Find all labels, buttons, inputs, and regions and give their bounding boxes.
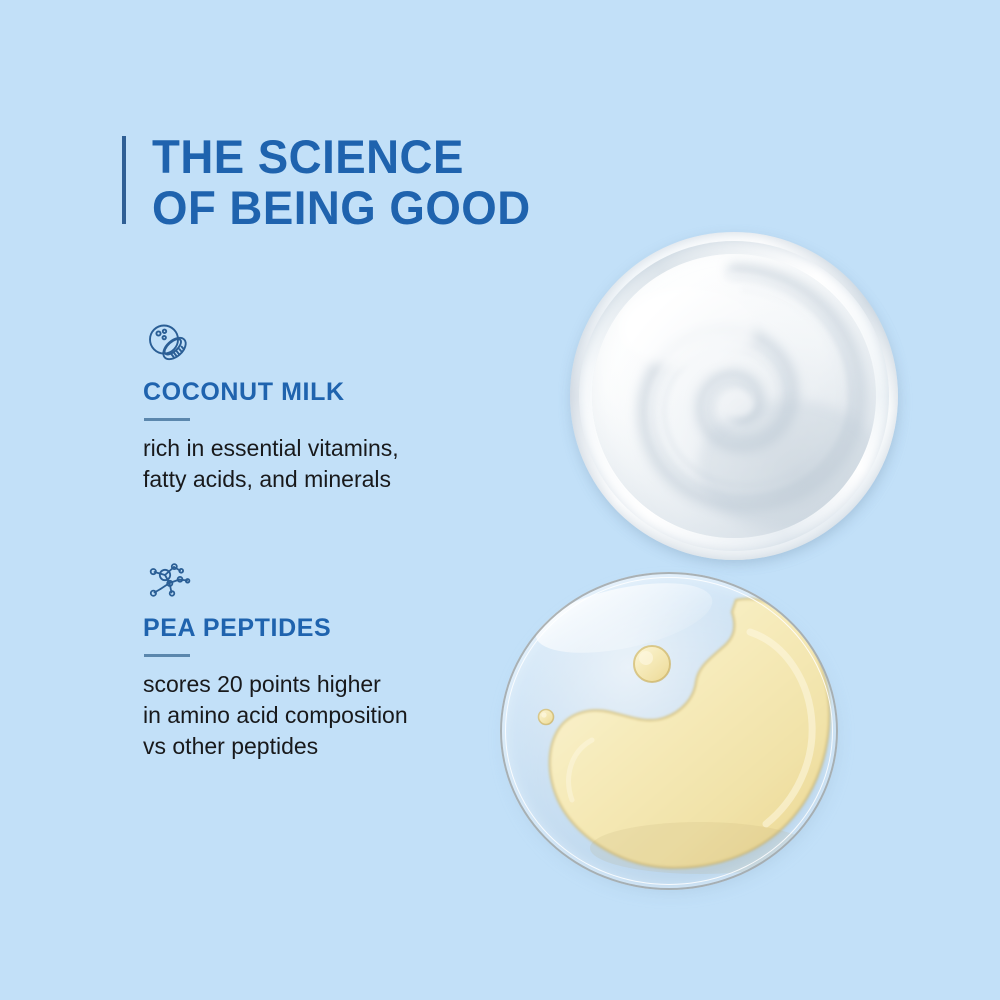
- feature-pea-peptides: PEA PEPTIDES scores 20 points higher in …: [143, 554, 503, 762]
- cream-swirl-pattern: [592, 254, 876, 538]
- serum-liquid: [500, 572, 838, 890]
- feature-description: rich in essential vitamins, fatty acids,…: [143, 433, 503, 495]
- promo-graphic: THE SCIENCE OF BEING GOOD: [0, 0, 1000, 1000]
- feature-title: COCONUT MILK: [143, 378, 503, 407]
- feature-coconut-milk: COCONUT MILK rich in essential vitamins,…: [143, 318, 503, 495]
- coconut-icon: [143, 318, 193, 368]
- heading-accent-bar: [122, 136, 126, 224]
- feature-divider: [144, 418, 190, 421]
- cream-swirl-image: [570, 232, 898, 560]
- cream-surface: [592, 254, 876, 538]
- petri-dish-glass: [500, 572, 838, 890]
- feature-title: PEA PEPTIDES: [143, 614, 503, 643]
- petri-dish-image: [500, 572, 838, 892]
- page-title: THE SCIENCE OF BEING GOOD: [152, 131, 531, 233]
- feature-description: scores 20 points higher in amino acid co…: [143, 669, 503, 762]
- peptide-molecule-icon: [143, 554, 193, 604]
- feature-divider: [144, 654, 190, 657]
